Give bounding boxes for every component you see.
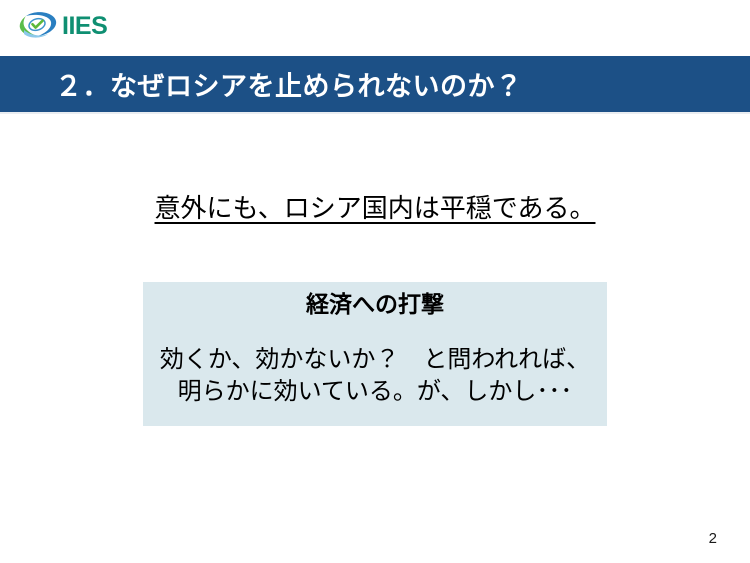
page-number: 2: [709, 530, 717, 547]
logo: IIES: [18, 8, 107, 42]
callout-body-line-2: 明らかに効いている。が、しかし･･･: [143, 376, 607, 408]
callout-heading: 経済への打撃: [143, 290, 607, 320]
lead-statement: 意外にも、ロシア国内は平穏である。: [0, 192, 750, 225]
slide-title-bar: ２．なぜロシアを止められないのか？: [0, 56, 750, 112]
iies-swirl-logo-icon: [18, 10, 58, 40]
page-title: ２．なぜロシアを止められないのか？: [55, 65, 523, 104]
callout-body-line-1: 効くか、効かないか？ と問われれば、: [143, 344, 607, 376]
title-bar-divider: [0, 112, 750, 114]
logo-wordmark: IIES: [62, 14, 107, 39]
slide-canvas: IIES ２．なぜロシアを止められないのか？ 意外にも、ロシア国内は平穏である。…: [0, 0, 750, 563]
callout-box: 経済への打撃 効くか、効かないか？ と問われれば、 明らかに効いている。が、しか…: [143, 282, 607, 426]
callout-body: 効くか、効かないか？ と問われれば、 明らかに効いている。が、しかし･･･: [143, 344, 607, 408]
lead-statement-text: 意外にも、ロシア国内は平穏である。: [155, 192, 596, 225]
